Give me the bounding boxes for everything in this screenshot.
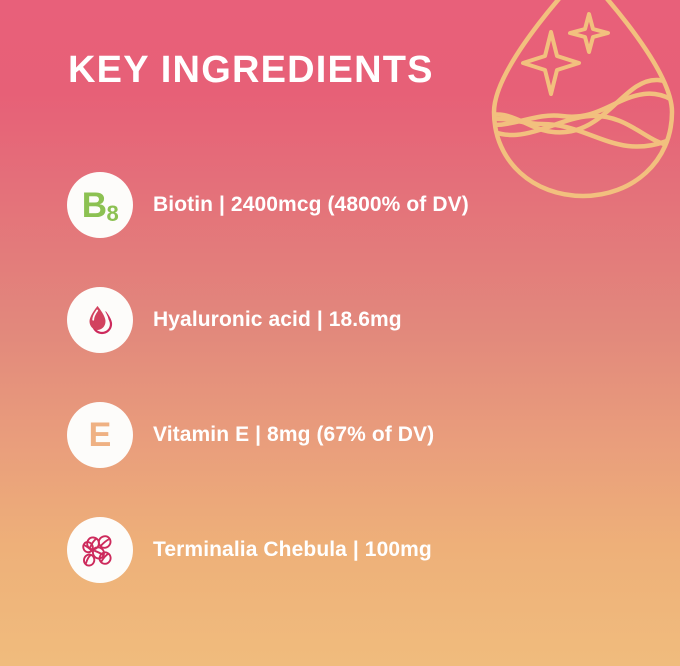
- list-item: B8 Biotin | 2400mcg (4800% of DV): [67, 172, 627, 238]
- seed-4: [84, 554, 94, 565]
- ingredient-label: Hyaluronic acid | 18.6mg: [153, 307, 402, 333]
- vitamin-e-icon: E: [67, 402, 133, 468]
- ingredient-label: Biotin | 2400mcg (4800% of DV): [153, 192, 469, 218]
- ingredient-label: Terminalia Chebula | 100mg: [153, 537, 432, 563]
- list-item: Hyaluronic acid | 18.6mg: [67, 287, 627, 353]
- page-title: KEY INGREDIENTS: [68, 48, 434, 92]
- ingredient-list: B8 Biotin | 2400mcg (4800% of DV) Hyalur…: [67, 172, 627, 583]
- sparkle-small-icon: [570, 14, 608, 52]
- wave-path-4: [482, 119, 680, 147]
- vitamin-b8-icon: B8: [67, 172, 133, 238]
- seed-2: [99, 536, 111, 548]
- drop-outline-path: [494, 0, 672, 196]
- e-glyph: E: [89, 418, 112, 452]
- list-item: Terminalia Chebula | 100mg: [67, 517, 627, 583]
- sparkle-large-icon: [523, 32, 579, 94]
- seeds-leaves-icon: [67, 517, 133, 583]
- wave-path-2: [480, 94, 680, 126]
- key-ingredients-card: KEY INGREDIENTS B8 Biotin | 2400mcg (480…: [0, 0, 680, 666]
- wave-path-1: [480, 80, 680, 132]
- b8-glyph: B8: [82, 188, 119, 223]
- water-droplet-icon: [67, 287, 133, 353]
- wave-path-3: [480, 116, 680, 146]
- droplet-icon-svg: [80, 300, 120, 340]
- seeds-icon-svg: [78, 528, 122, 572]
- ingredient-label: Vitamin E | 8mg (67% of DV): [153, 422, 434, 448]
- list-item: E Vitamin E | 8mg (67% of DV): [67, 402, 627, 468]
